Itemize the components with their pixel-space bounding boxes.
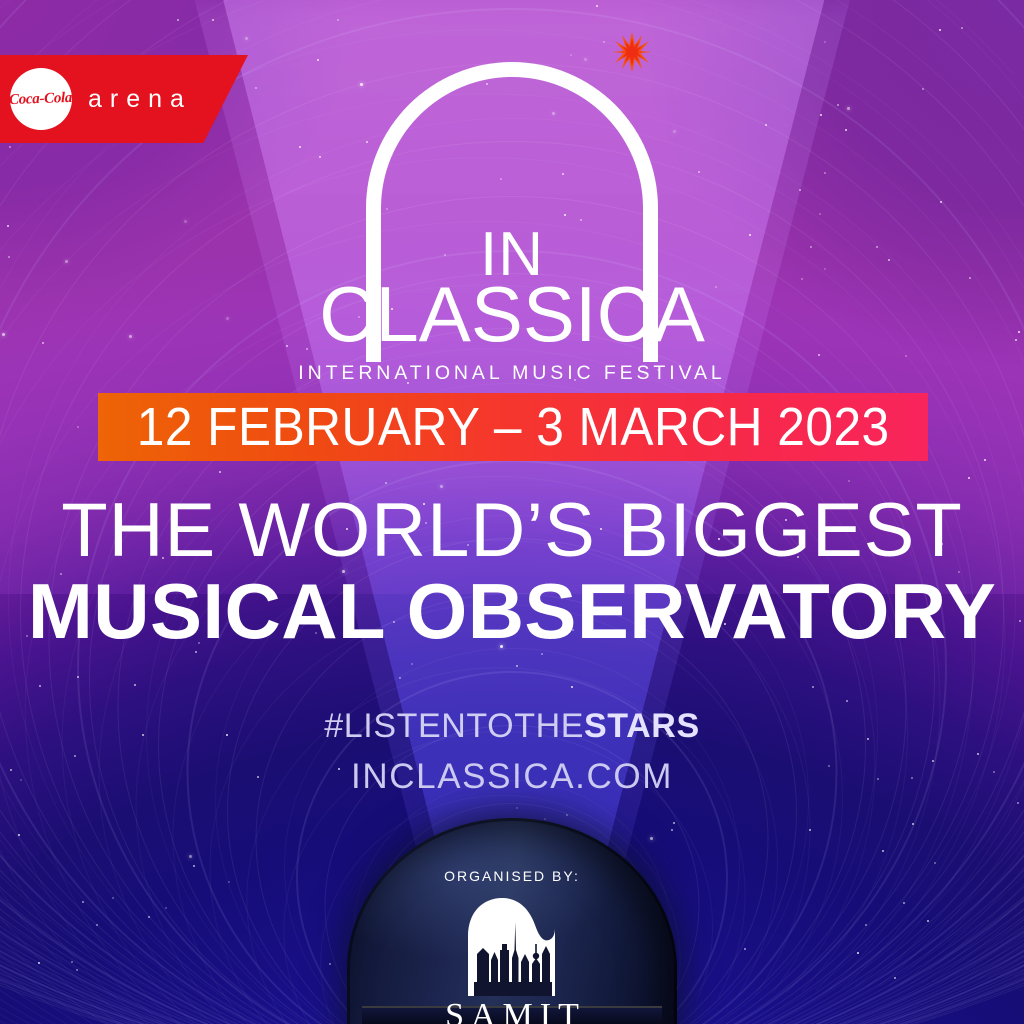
hashtag: #LISTENTOTHESTARS	[0, 707, 1024, 746]
hashtag-light-part: #LISTENTOTHE	[324, 707, 584, 745]
date-banner: 12 FEBRUARY – 3 MARCH 2023	[98, 393, 928, 461]
event-poster: Coca-Cola arena IN CLASSICA INTERNATIONA…	[0, 0, 1024, 1024]
organiser-name: SAMIT	[397, 997, 627, 1024]
hashtag-bold-part: STARS	[584, 707, 700, 745]
organised-by-label: ORGANISED BY:	[397, 868, 627, 884]
arch-icon	[366, 62, 658, 212]
headline: THE WORLD’S BIGGEST MUSICAL OBSERVATORY	[0, 492, 1024, 651]
date-range-text: 12 FEBRUARY – 3 MARCH 2023	[137, 396, 890, 458]
samit-piano-skyline-icon	[452, 892, 572, 996]
festival-logo: IN CLASSICA INTERNATIONAL MUSIC FESTIVAL	[0, 62, 1024, 385]
organiser-block: ORGANISED BY:	[397, 868, 627, 1024]
website-url[interactable]: INCLASSICA.COM	[0, 757, 1024, 797]
headline-line-1: THE WORLD’S BIGGEST	[0, 492, 1024, 570]
festival-logo-subtitle: INTERNATIONAL MUSIC FESTIVAL	[298, 362, 725, 385]
headline-line-2: MUSICAL OBSERVATORY	[0, 572, 1024, 652]
